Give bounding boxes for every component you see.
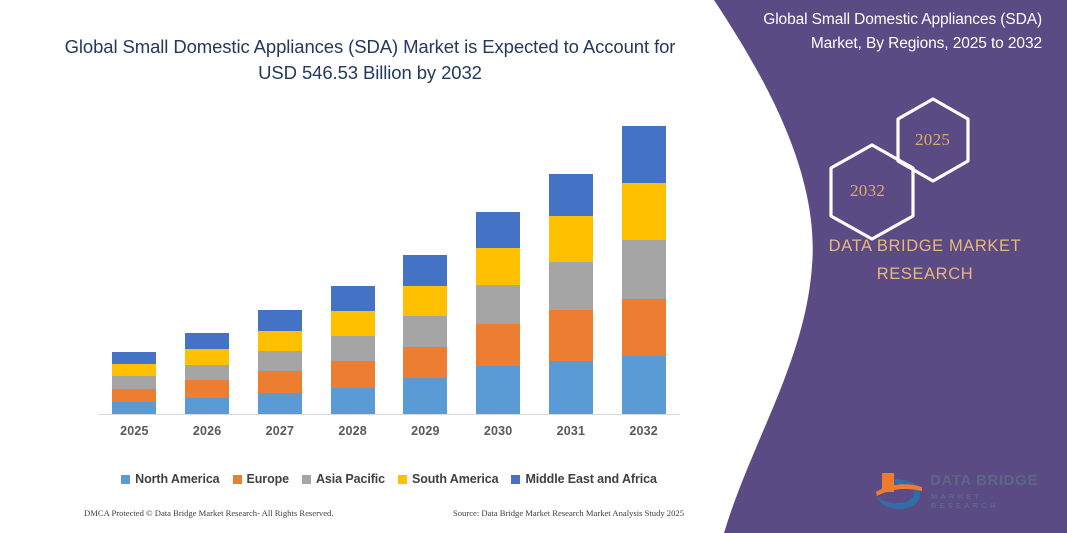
bar-column[interactable]: [464, 212, 532, 415]
legend-swatch-icon: [398, 475, 407, 484]
legend-item[interactable]: North America: [121, 472, 219, 486]
infographic-page: Global Small Domestic Appliances (SDA) M…: [0, 0, 1067, 533]
bar-segment-asia-pacific[interactable]: [331, 336, 375, 361]
bar-segment-middle-east-and-africa[interactable]: [331, 286, 375, 311]
bar-segment-asia-pacific[interactable]: [549, 262, 593, 311]
legend-label: South America: [412, 472, 498, 486]
bar-segment-asia-pacific[interactable]: [112, 376, 156, 388]
bar-segment-asia-pacific[interactable]: [403, 316, 447, 347]
legend-swatch-icon: [121, 475, 130, 484]
bar-segment-asia-pacific[interactable]: [622, 240, 666, 299]
bar-column[interactable]: [319, 286, 387, 415]
data-bridge-logo: DATA BRIDGE MARKET RESEARCH: [872, 470, 1047, 516]
bar-column[interactable]: [610, 126, 678, 415]
bar-segment-south-america[interactable]: [185, 349, 229, 365]
bar-segment-europe[interactable]: [258, 371, 302, 392]
logo-divider: [931, 490, 1043, 491]
logo-wordmark: DATA BRIDGE: [930, 472, 1038, 489]
bar-segment-north-america[interactable]: [331, 388, 375, 415]
bar-stack: [112, 352, 156, 415]
bar-segment-north-america[interactable]: [476, 366, 520, 415]
bar-segment-europe[interactable]: [185, 380, 229, 397]
logo-mark-icon: [872, 470, 928, 514]
bar-segment-middle-east-and-africa[interactable]: [476, 212, 520, 249]
bar-column[interactable]: [173, 333, 241, 415]
bar-segment-europe[interactable]: [476, 324, 520, 367]
x-axis-label: 2030: [464, 424, 532, 438]
bar-stack: [476, 212, 520, 415]
chart-legend: North AmericaEuropeAsia PacificSouth Ame…: [98, 472, 680, 486]
brand-name: DATA BRIDGE MARKET RESEARCH: [790, 232, 1060, 288]
legend-label: Europe: [247, 472, 289, 486]
x-axis-line: [98, 414, 680, 415]
bar-segment-asia-pacific[interactable]: [185, 365, 229, 380]
bar-segment-europe[interactable]: [549, 310, 593, 361]
bar-segment-middle-east-and-africa[interactable]: [403, 255, 447, 286]
bar-segment-south-america[interactable]: [258, 331, 302, 351]
bar-segment-middle-east-and-africa[interactable]: [549, 174, 593, 216]
footer-copyright: DMCA Protected © Data Bridge Market Rese…: [84, 508, 334, 518]
legend-label: North America: [135, 472, 219, 486]
logo-subtitle: MARKET RESEARCH: [931, 492, 1047, 510]
legend-label: Middle East and Africa: [525, 472, 656, 486]
bar-segment-europe[interactable]: [622, 299, 666, 356]
bar-segment-north-america[interactable]: [549, 361, 593, 415]
legend-label: Asia Pacific: [316, 472, 385, 486]
chart-plot-area: [98, 110, 680, 415]
legend-item[interactable]: South America: [398, 472, 498, 486]
bar-segment-south-america[interactable]: [403, 286, 447, 317]
bar-segment-middle-east-and-africa[interactable]: [185, 333, 229, 349]
bar-segment-middle-east-and-africa[interactable]: [258, 310, 302, 330]
x-axis-label: 2026: [173, 424, 241, 438]
legend-item[interactable]: Middle East and Africa: [511, 472, 656, 486]
page-title: Global Small Domestic Appliances (SDA) M…: [60, 34, 680, 86]
bar-segment-south-america[interactable]: [476, 248, 520, 285]
x-axis-label: 2025: [100, 424, 168, 438]
x-axis-label: 2031: [537, 424, 605, 438]
bar-segment-asia-pacific[interactable]: [258, 351, 302, 371]
bar-segment-europe[interactable]: [331, 361, 375, 387]
bar-segment-europe[interactable]: [403, 347, 447, 379]
bar-segment-middle-east-and-africa[interactable]: [622, 126, 666, 183]
bar-column[interactable]: [391, 255, 459, 415]
bar-stack: [622, 126, 666, 415]
bar-stack: [185, 333, 229, 415]
x-axis-label: 2029: [391, 424, 459, 438]
legend-swatch-icon: [511, 475, 520, 484]
bar-stack: [331, 286, 375, 415]
bar-segment-north-america[interactable]: [622, 356, 666, 415]
x-axis-label: 2028: [319, 424, 387, 438]
hexagon-2025-label: 2025: [915, 130, 950, 150]
bar-segment-south-america[interactable]: [622, 183, 666, 240]
legend-item[interactable]: Europe: [233, 472, 289, 486]
hexagon-2032-label: 2032: [850, 181, 885, 201]
bar-column[interactable]: [537, 174, 605, 415]
bar-segment-middle-east-and-africa[interactable]: [112, 352, 156, 364]
bar-column[interactable]: [246, 310, 314, 415]
bar-segment-asia-pacific[interactable]: [476, 285, 520, 324]
bar-segment-europe[interactable]: [112, 389, 156, 402]
legend-swatch-icon: [302, 475, 311, 484]
x-axis-labels: 20252026202720282029203020312032: [98, 424, 680, 444]
footer: DMCA Protected © Data Bridge Market Rese…: [84, 508, 684, 518]
bar-stack: [549, 174, 593, 415]
bar-stack: [258, 310, 302, 415]
x-axis-label: 2027: [246, 424, 314, 438]
bar-column[interactable]: [100, 352, 168, 415]
legend-swatch-icon: [233, 475, 242, 484]
bar-segment-south-america[interactable]: [549, 216, 593, 262]
bar-segment-south-america[interactable]: [331, 311, 375, 335]
footer-source: Source: Data Bridge Market Research Mark…: [453, 508, 684, 518]
bar-segment-south-america[interactable]: [112, 364, 156, 376]
legend-item[interactable]: Asia Pacific: [302, 472, 385, 486]
bar-segment-north-america[interactable]: [258, 393, 302, 415]
bar-stack: [403, 255, 447, 415]
x-axis-label: 2032: [610, 424, 678, 438]
bar-segment-north-america[interactable]: [403, 378, 447, 415]
bar-segment-north-america[interactable]: [185, 398, 229, 415]
panel-title: Global Small Domestic Appliances (SDA) M…: [742, 8, 1042, 56]
hexagon-2032: 2032: [825, 142, 919, 242]
